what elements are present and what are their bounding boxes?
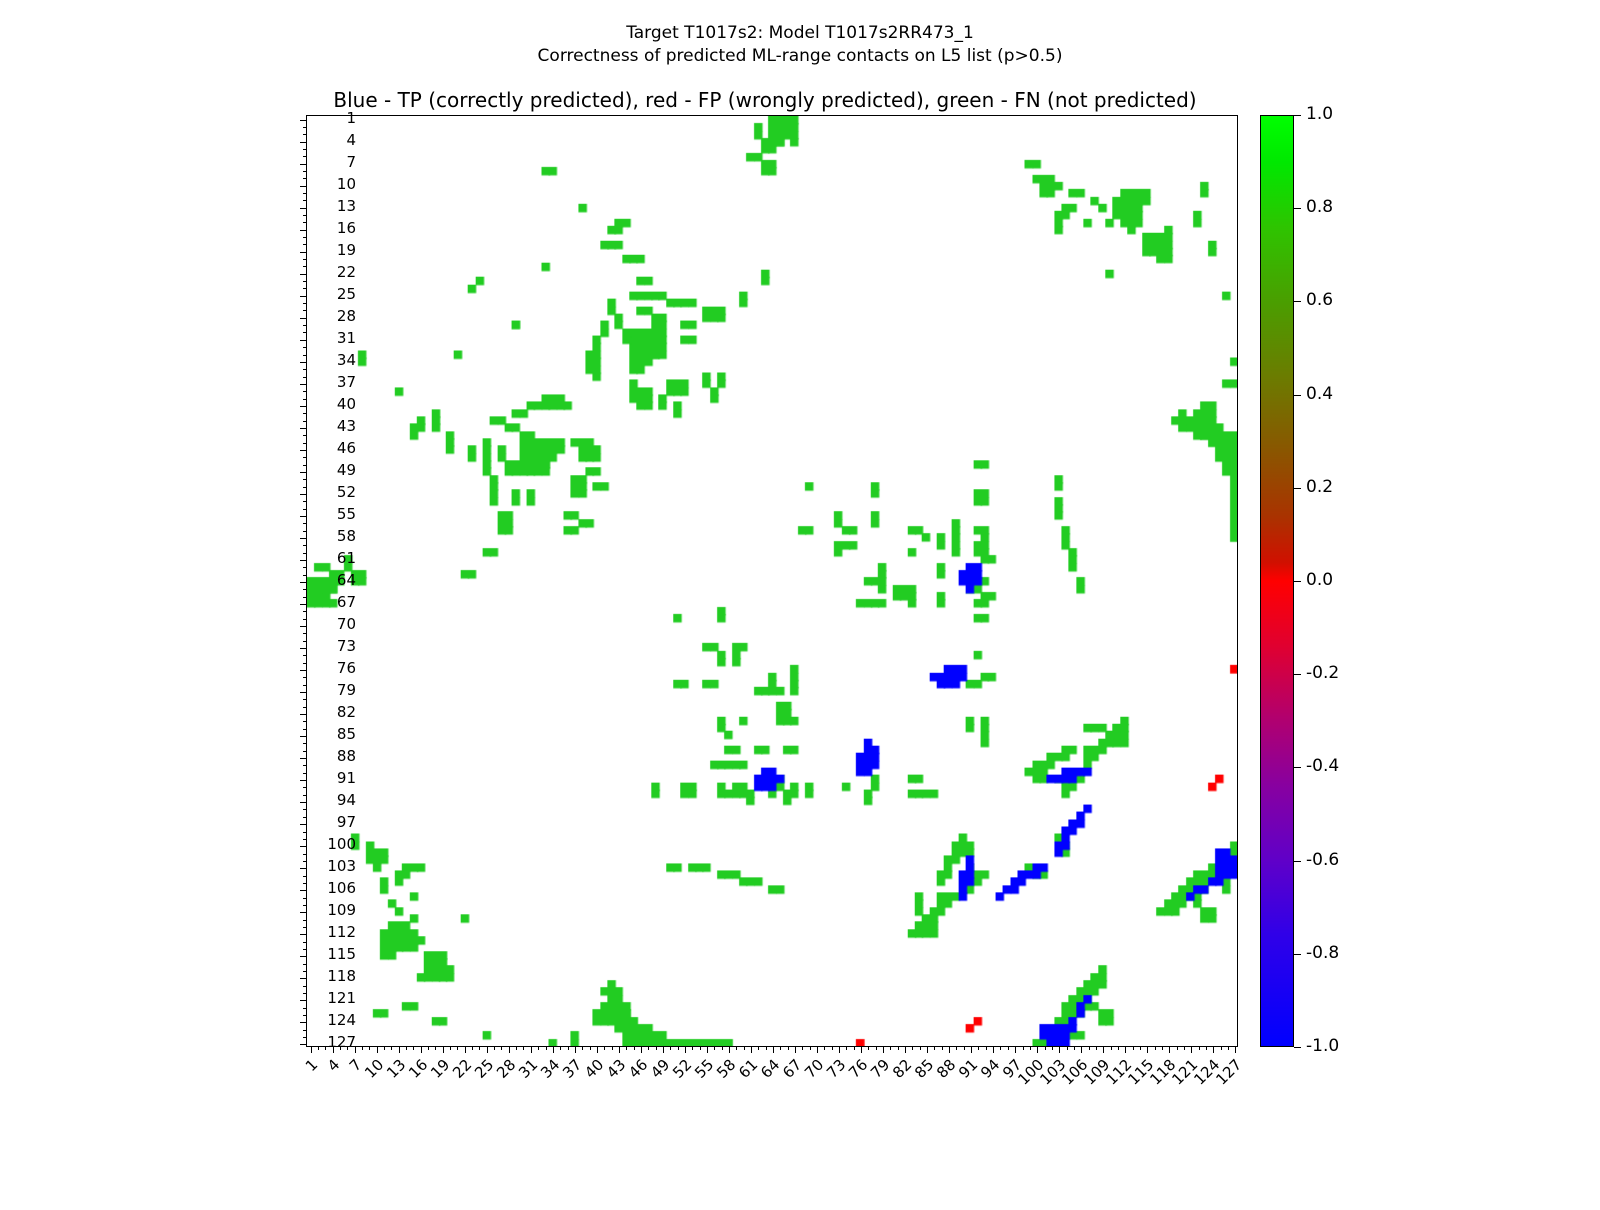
y-tick-minor bbox=[303, 663, 307, 664]
y-tick-minor bbox=[303, 854, 307, 855]
x-tick-major bbox=[377, 1046, 378, 1053]
x-tick-major bbox=[1213, 1046, 1214, 1053]
x-tick-major bbox=[1169, 1046, 1170, 1053]
y-tick-minor bbox=[303, 325, 307, 326]
x-tick-major bbox=[465, 1046, 466, 1053]
x-tick-minor bbox=[1000, 1046, 1001, 1050]
y-tick-minor bbox=[303, 751, 307, 752]
y-tick-label: 67 bbox=[337, 595, 356, 610]
x-tick-minor bbox=[1221, 1046, 1222, 1050]
y-tick-minor bbox=[303, 266, 307, 267]
x-tick-major bbox=[729, 1046, 730, 1053]
x-tick-major bbox=[795, 1046, 796, 1053]
x-tick-minor bbox=[714, 1046, 715, 1050]
y-tick-label: 16 bbox=[337, 221, 356, 236]
y-tick-major bbox=[300, 582, 307, 583]
x-tick-minor bbox=[560, 1046, 561, 1050]
x-tick-major bbox=[685, 1046, 686, 1053]
y-tick-minor bbox=[303, 465, 307, 466]
y-tick-minor bbox=[303, 927, 307, 928]
x-tick-minor bbox=[1074, 1046, 1075, 1050]
y-tick-minor bbox=[303, 729, 307, 730]
colorbar-tick-label: 0.0 bbox=[1306, 572, 1333, 589]
y-tick-minor bbox=[303, 545, 307, 546]
y-tick-label: 19 bbox=[337, 243, 356, 258]
y-tick-major bbox=[300, 318, 307, 319]
y-tick-minor bbox=[303, 699, 307, 700]
y-tick-minor bbox=[303, 259, 307, 260]
y-tick-minor bbox=[303, 949, 307, 950]
y-tick-label: 34 bbox=[337, 353, 356, 368]
y-tick-label: 31 bbox=[337, 331, 356, 346]
y-tick-label: 4 bbox=[346, 133, 356, 148]
x-tick-minor bbox=[634, 1046, 635, 1050]
colorbar-tick bbox=[1294, 954, 1301, 955]
y-tick-major bbox=[300, 824, 307, 825]
y-tick-major bbox=[300, 494, 307, 495]
x-tick-minor bbox=[890, 1046, 891, 1050]
y-tick-minor bbox=[303, 1008, 307, 1009]
y-tick-label: 28 bbox=[337, 309, 356, 324]
y-tick-minor bbox=[303, 288, 307, 289]
x-tick-minor bbox=[1045, 1046, 1046, 1050]
colorbar-tick-label: 0.4 bbox=[1306, 386, 1333, 403]
y-tick-major bbox=[300, 120, 307, 121]
y-tick-major bbox=[300, 934, 307, 935]
y-tick-minor bbox=[303, 281, 307, 282]
y-tick-major bbox=[300, 714, 307, 715]
y-tick-major bbox=[300, 648, 307, 649]
x-tick-minor bbox=[1023, 1046, 1024, 1050]
y-tick-label: 124 bbox=[327, 1013, 356, 1028]
y-tick-minor bbox=[303, 156, 307, 157]
y-tick-label: 37 bbox=[337, 375, 356, 390]
y-tick-minor bbox=[303, 1037, 307, 1038]
y-tick-minor bbox=[303, 355, 307, 356]
colorbar-gradient bbox=[1260, 115, 1294, 1047]
y-tick-major bbox=[300, 406, 307, 407]
y-tick-major bbox=[300, 428, 307, 429]
x-tick-minor bbox=[824, 1046, 825, 1050]
y-tick-major bbox=[300, 560, 307, 561]
y-tick-minor bbox=[303, 611, 307, 612]
x-tick-minor bbox=[369, 1046, 370, 1050]
x-tick-major bbox=[509, 1046, 510, 1053]
y-tick-minor bbox=[303, 237, 307, 238]
x-tick-minor bbox=[832, 1046, 833, 1050]
x-tick-major bbox=[993, 1046, 994, 1053]
x-tick-major bbox=[443, 1046, 444, 1053]
title-block: Target T1017s2: Model T1017s2RR473_1 Cor… bbox=[0, 22, 1600, 68]
x-tick-major bbox=[663, 1046, 664, 1053]
y-tick-major bbox=[300, 846, 307, 847]
x-tick-minor bbox=[494, 1046, 495, 1050]
x-tick-minor bbox=[457, 1046, 458, 1050]
x-tick-minor bbox=[568, 1046, 569, 1050]
x-tick-minor bbox=[1155, 1046, 1156, 1050]
y-tick-label: 91 bbox=[337, 771, 356, 786]
y-tick-major bbox=[300, 890, 307, 891]
colorbar-tick bbox=[1294, 767, 1301, 768]
x-tick-minor bbox=[1030, 1046, 1031, 1050]
x-tick-major bbox=[1081, 1046, 1082, 1053]
x-tick-minor bbox=[479, 1046, 480, 1050]
y-tick-minor bbox=[303, 795, 307, 796]
y-tick-minor bbox=[303, 655, 307, 656]
y-tick-major bbox=[300, 450, 307, 451]
y-tick-major bbox=[300, 956, 307, 957]
suptitle-line-1: Target T1017s2: Model T1017s2RR473_1 bbox=[0, 22, 1600, 45]
y-tick-major bbox=[300, 1000, 307, 1001]
x-tick-minor bbox=[1140, 1046, 1141, 1050]
x-tick-minor bbox=[1133, 1046, 1134, 1050]
colorbar-tick bbox=[1294, 301, 1301, 302]
y-tick-minor bbox=[303, 920, 307, 921]
x-tick-major bbox=[905, 1046, 906, 1053]
y-tick-minor bbox=[303, 619, 307, 620]
x-tick-major bbox=[597, 1046, 598, 1053]
y-tick-minor bbox=[303, 457, 307, 458]
y-tick-label: 76 bbox=[337, 661, 356, 676]
colorbar-tick-label: 0.8 bbox=[1306, 199, 1333, 216]
x-tick-minor bbox=[1111, 1046, 1112, 1050]
x-tick-minor bbox=[538, 1046, 539, 1050]
y-tick-label: 49 bbox=[337, 463, 356, 478]
y-tick-label: 127 bbox=[327, 1035, 356, 1050]
y-tick-major bbox=[300, 230, 307, 231]
y-tick-major bbox=[300, 164, 307, 165]
x-tick-minor bbox=[406, 1046, 407, 1050]
y-tick-minor bbox=[303, 332, 307, 333]
x-tick-minor bbox=[692, 1046, 693, 1050]
x-tick-minor bbox=[912, 1046, 913, 1050]
y-tick-minor bbox=[303, 721, 307, 722]
y-tick-minor bbox=[303, 898, 307, 899]
y-tick-minor bbox=[303, 964, 307, 965]
x-tick-major bbox=[971, 1046, 972, 1053]
x-tick-minor bbox=[766, 1046, 767, 1050]
y-tick-minor bbox=[303, 787, 307, 788]
x-tick-minor bbox=[1052, 1046, 1053, 1050]
x-tick-minor bbox=[868, 1046, 869, 1050]
x-tick-minor bbox=[656, 1046, 657, 1050]
x-tick-minor bbox=[362, 1046, 363, 1050]
y-tick-minor bbox=[303, 743, 307, 744]
y-tick-major bbox=[300, 340, 307, 341]
x-tick-major bbox=[1103, 1046, 1104, 1053]
y-tick-major bbox=[300, 670, 307, 671]
x-tick-major bbox=[641, 1046, 642, 1053]
x-tick-major bbox=[1015, 1046, 1016, 1053]
y-tick-major bbox=[300, 1044, 307, 1045]
y-tick-minor bbox=[303, 421, 307, 422]
x-tick-major bbox=[1147, 1046, 1148, 1053]
y-tick-minor bbox=[303, 861, 307, 862]
colorbar-tick bbox=[1294, 861, 1301, 862]
colorbar-tick-label: -1.0 bbox=[1306, 1038, 1339, 1055]
y-tick-minor bbox=[303, 839, 307, 840]
x-tick-major bbox=[1191, 1046, 1192, 1053]
y-tick-minor bbox=[303, 479, 307, 480]
x-tick-minor bbox=[1206, 1046, 1207, 1050]
x-tick-major bbox=[883, 1046, 884, 1053]
x-tick-major bbox=[553, 1046, 554, 1053]
y-tick-minor bbox=[303, 193, 307, 194]
y-tick-minor bbox=[303, 303, 307, 304]
x-tick-major bbox=[707, 1046, 708, 1053]
y-tick-minor bbox=[303, 876, 307, 877]
x-tick-minor bbox=[920, 1046, 921, 1050]
y-tick-minor bbox=[303, 501, 307, 502]
x-tick-minor bbox=[318, 1046, 319, 1050]
y-tick-major bbox=[300, 780, 307, 781]
colorbar-tick-label: 0.2 bbox=[1306, 479, 1333, 496]
x-tick-minor bbox=[678, 1046, 679, 1050]
y-tick-major bbox=[300, 274, 307, 275]
x-tick-minor bbox=[964, 1046, 965, 1050]
x-tick-major bbox=[619, 1046, 620, 1053]
y-tick-label: 25 bbox=[337, 287, 356, 302]
y-tick-major bbox=[300, 252, 307, 253]
x-tick-major bbox=[817, 1046, 818, 1053]
y-tick-label: 61 bbox=[337, 551, 356, 566]
y-tick-label: 1 bbox=[346, 111, 356, 126]
y-tick-label: 100 bbox=[327, 837, 356, 852]
x-tick-minor bbox=[1184, 1046, 1185, 1050]
y-tick-major bbox=[300, 186, 307, 187]
x-tick-minor bbox=[758, 1046, 759, 1050]
y-tick-minor bbox=[303, 127, 307, 128]
y-tick-minor bbox=[303, 443, 307, 444]
y-tick-major bbox=[300, 802, 307, 803]
y-tick-label: 10 bbox=[337, 177, 356, 192]
y-tick-minor bbox=[303, 377, 307, 378]
x-tick-minor bbox=[1067, 1046, 1068, 1050]
x-tick-minor bbox=[744, 1046, 745, 1050]
x-tick-minor bbox=[516, 1046, 517, 1050]
y-tick-label: 7 bbox=[346, 155, 356, 170]
x-tick-minor bbox=[876, 1046, 877, 1050]
y-tick-label: 52 bbox=[337, 485, 356, 500]
x-tick-minor bbox=[1089, 1046, 1090, 1050]
y-tick-major bbox=[300, 142, 307, 143]
x-tick-minor bbox=[501, 1046, 502, 1050]
y-tick-major bbox=[300, 758, 307, 759]
y-tick-major bbox=[300, 692, 307, 693]
y-tick-label: 40 bbox=[337, 397, 356, 412]
x-tick-major bbox=[839, 1046, 840, 1053]
axes-title: Blue - TP (correctly predicted), red - F… bbox=[0, 88, 1530, 112]
x-tick-major bbox=[927, 1046, 928, 1053]
x-tick-minor bbox=[942, 1046, 943, 1050]
y-tick-minor bbox=[303, 435, 307, 436]
y-tick-label: 106 bbox=[327, 881, 356, 896]
x-tick-major bbox=[1235, 1046, 1236, 1053]
y-tick-label: 22 bbox=[337, 265, 356, 280]
y-tick-label: 79 bbox=[337, 683, 356, 698]
y-tick-minor bbox=[303, 215, 307, 216]
y-tick-minor bbox=[303, 149, 307, 150]
y-tick-major bbox=[300, 472, 307, 473]
x-tick-minor bbox=[956, 1046, 957, 1050]
x-tick-major bbox=[1059, 1046, 1060, 1053]
y-tick-minor bbox=[303, 567, 307, 568]
y-tick-minor bbox=[303, 633, 307, 634]
y-tick-major bbox=[300, 362, 307, 363]
y-tick-major bbox=[300, 1022, 307, 1023]
x-tick-minor bbox=[472, 1046, 473, 1050]
y-tick-minor bbox=[303, 200, 307, 201]
x-tick-minor bbox=[546, 1046, 547, 1050]
colorbar-tick bbox=[1294, 674, 1301, 675]
y-tick-label: 73 bbox=[337, 639, 356, 654]
colorbar-tick bbox=[1294, 488, 1301, 489]
contact-map-canvas bbox=[307, 116, 1237, 1046]
x-tick-minor bbox=[722, 1046, 723, 1050]
y-tick-major bbox=[300, 208, 307, 209]
y-tick-major bbox=[300, 868, 307, 869]
y-tick-minor bbox=[303, 487, 307, 488]
colorbar-tick-label: -0.4 bbox=[1306, 758, 1339, 775]
y-tick-minor bbox=[303, 905, 307, 906]
x-tick-minor bbox=[1228, 1046, 1229, 1050]
y-tick-label: 55 bbox=[337, 507, 356, 522]
x-tick-minor bbox=[626, 1046, 627, 1050]
y-tick-minor bbox=[303, 677, 307, 678]
y-tick-label: 94 bbox=[337, 793, 356, 808]
x-tick-major bbox=[575, 1046, 576, 1053]
x-tick-minor bbox=[523, 1046, 524, 1050]
x-tick-minor bbox=[1118, 1046, 1119, 1050]
y-tick-minor bbox=[303, 531, 307, 532]
colorbar: 1.00.80.60.40.20.0-0.2-0.4-0.6-0.8-1.0 bbox=[1260, 115, 1294, 1047]
y-tick-minor bbox=[303, 369, 307, 370]
x-tick-minor bbox=[391, 1046, 392, 1050]
colorbar-tick bbox=[1294, 395, 1301, 396]
y-tick-minor bbox=[303, 641, 307, 642]
x-tick-minor bbox=[450, 1046, 451, 1050]
y-tick-label: 13 bbox=[337, 199, 356, 214]
x-tick-minor bbox=[846, 1046, 847, 1050]
x-tick-major bbox=[531, 1046, 532, 1053]
y-tick-major bbox=[300, 538, 307, 539]
x-tick-minor bbox=[413, 1046, 414, 1050]
x-tick-minor bbox=[604, 1046, 605, 1050]
y-tick-minor bbox=[303, 553, 307, 554]
colorbar-tick bbox=[1294, 115, 1301, 116]
x-tick-minor bbox=[384, 1046, 385, 1050]
x-tick-minor bbox=[810, 1046, 811, 1050]
y-tick-major bbox=[300, 736, 307, 737]
x-tick-minor bbox=[1177, 1046, 1178, 1050]
y-tick-minor bbox=[303, 310, 307, 311]
x-tick-minor bbox=[1096, 1046, 1097, 1050]
colorbar-tick bbox=[1294, 208, 1301, 209]
x-tick-major bbox=[861, 1046, 862, 1053]
y-tick-minor bbox=[303, 817, 307, 818]
x-tick-minor bbox=[700, 1046, 701, 1050]
y-tick-minor bbox=[303, 134, 307, 135]
x-tick-minor bbox=[435, 1046, 436, 1050]
x-tick-minor bbox=[788, 1046, 789, 1050]
y-tick-label: 112 bbox=[327, 925, 356, 940]
y-tick-label: 109 bbox=[327, 903, 356, 918]
x-tick-major bbox=[751, 1046, 752, 1053]
x-tick-minor bbox=[978, 1046, 979, 1050]
y-tick-major bbox=[300, 978, 307, 979]
y-tick-minor bbox=[303, 399, 307, 400]
x-tick-minor bbox=[428, 1046, 429, 1050]
y-tick-minor bbox=[303, 244, 307, 245]
x-tick-minor bbox=[736, 1046, 737, 1050]
x-tick-minor bbox=[670, 1046, 671, 1050]
colorbar-tick bbox=[1294, 581, 1301, 582]
x-tick-minor bbox=[648, 1046, 649, 1050]
contact-map-plot bbox=[306, 115, 1238, 1047]
y-tick-label: 121 bbox=[327, 991, 356, 1006]
y-tick-label: 115 bbox=[327, 947, 356, 962]
x-tick-minor bbox=[898, 1046, 899, 1050]
y-tick-minor bbox=[303, 391, 307, 392]
y-tick-minor bbox=[303, 413, 307, 414]
y-tick-minor bbox=[303, 509, 307, 510]
y-tick-minor bbox=[303, 883, 307, 884]
x-tick-major bbox=[773, 1046, 774, 1053]
y-tick-label: 46 bbox=[337, 441, 356, 456]
x-tick-minor bbox=[986, 1046, 987, 1050]
y-tick-minor bbox=[303, 765, 307, 766]
x-tick-major bbox=[487, 1046, 488, 1053]
y-tick-major bbox=[300, 296, 307, 297]
y-tick-minor bbox=[303, 171, 307, 172]
y-tick-label: 43 bbox=[337, 419, 356, 434]
y-tick-minor bbox=[303, 597, 307, 598]
y-tick-minor bbox=[303, 986, 307, 987]
x-tick-major bbox=[311, 1046, 312, 1053]
y-tick-label: 97 bbox=[337, 815, 356, 830]
x-tick-minor bbox=[1008, 1046, 1009, 1050]
colorbar-tick-label: 0.6 bbox=[1306, 292, 1333, 309]
y-tick-minor bbox=[303, 1030, 307, 1031]
y-tick-label: 64 bbox=[337, 573, 356, 588]
y-tick-label: 85 bbox=[337, 727, 356, 742]
x-tick-minor bbox=[325, 1046, 326, 1050]
y-tick-minor bbox=[303, 707, 307, 708]
x-tick-major bbox=[1037, 1046, 1038, 1053]
y-tick-label: 88 bbox=[337, 749, 356, 764]
colorbar-tick-label: -0.8 bbox=[1306, 945, 1339, 962]
y-tick-minor bbox=[303, 575, 307, 576]
y-tick-label: 82 bbox=[337, 705, 356, 720]
colorbar-tick bbox=[1294, 1047, 1301, 1048]
x-tick-minor bbox=[1199, 1046, 1200, 1050]
x-tick-minor bbox=[854, 1046, 855, 1050]
y-tick-minor bbox=[303, 993, 307, 994]
colorbar-tick-label: -0.6 bbox=[1306, 852, 1339, 869]
y-tick-minor bbox=[303, 685, 307, 686]
y-tick-label: 70 bbox=[337, 617, 356, 632]
x-tick-major bbox=[1125, 1046, 1126, 1053]
y-tick-label: 103 bbox=[327, 859, 356, 874]
y-tick-minor bbox=[303, 222, 307, 223]
x-tick-major bbox=[399, 1046, 400, 1053]
x-tick-minor bbox=[780, 1046, 781, 1050]
y-tick-minor bbox=[303, 1015, 307, 1016]
y-tick-major bbox=[300, 626, 307, 627]
x-tick-minor bbox=[590, 1046, 591, 1050]
y-tick-minor bbox=[303, 178, 307, 179]
x-tick-minor bbox=[1162, 1046, 1163, 1050]
